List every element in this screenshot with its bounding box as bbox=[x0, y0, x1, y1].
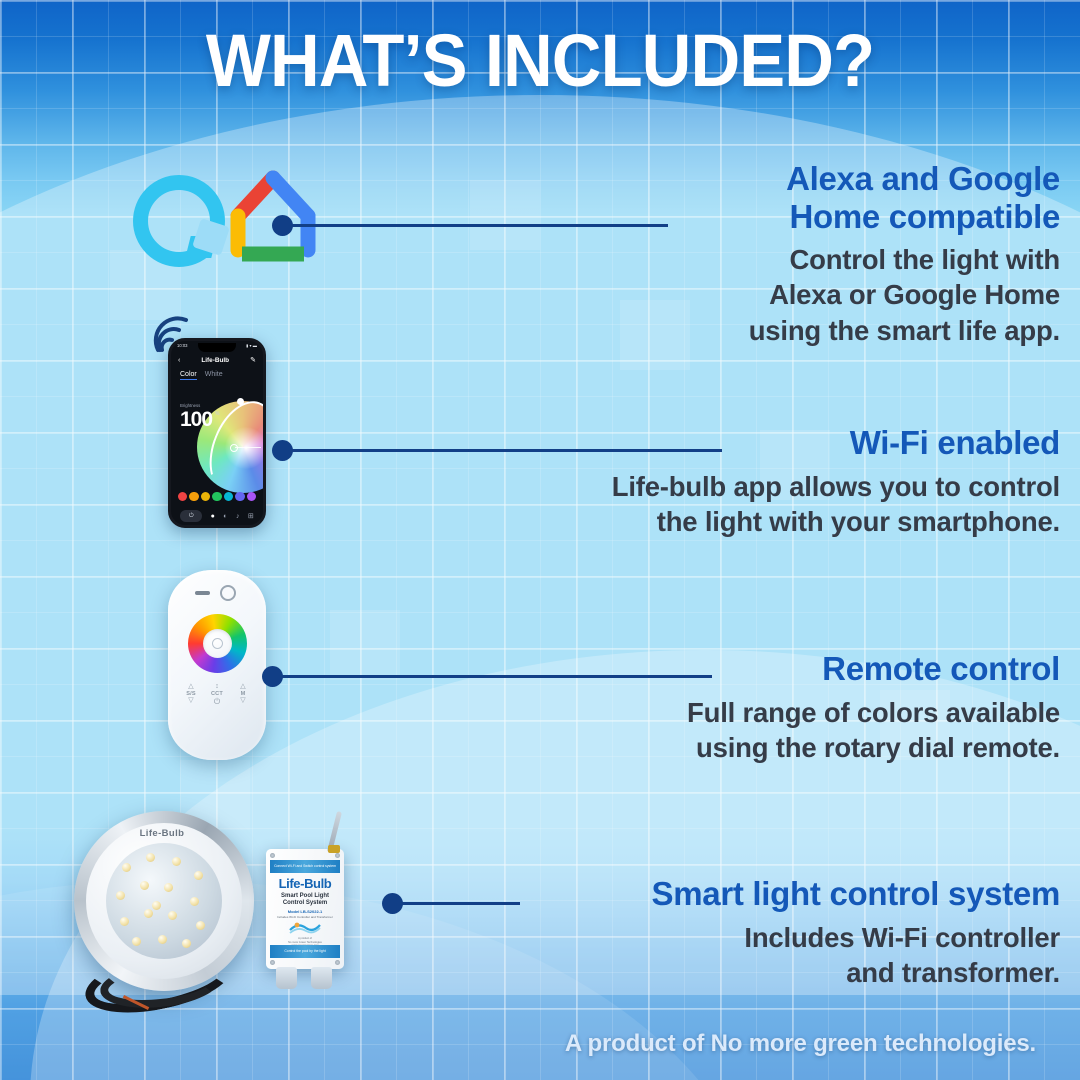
power-button[interactable]: ⏻ bbox=[180, 510, 202, 522]
remote-up-icon[interactable]: △ bbox=[178, 683, 204, 691]
tab-white[interactable]: White bbox=[205, 371, 223, 378]
controller-screw bbox=[270, 853, 275, 858]
feature-heading-4: Smart light control system bbox=[652, 875, 1060, 913]
controller-includes: Includes Wi-Fi Controller and Transforme… bbox=[266, 915, 344, 919]
tile-highlight bbox=[620, 300, 690, 370]
feature-heading-3: Remote control bbox=[687, 650, 1060, 688]
controller-bottom-strip: Control the pool by the light bbox=[270, 945, 340, 958]
tab-color[interactable]: Color bbox=[180, 371, 197, 380]
swatch-blue[interactable] bbox=[235, 492, 245, 502]
swatch-purple[interactable] bbox=[247, 492, 257, 502]
rgb-remote-control: △ S/S ▽ ↕ CCT ⏻ △ M ▽ bbox=[168, 570, 266, 760]
tile-highlight bbox=[330, 610, 400, 680]
feature-body-3: Full range of colors available using the… bbox=[687, 695, 1060, 765]
feature-text-2: Wi-Fi enabled Life-bulb app allows you t… bbox=[612, 424, 1060, 539]
nav-grid-icon[interactable]: ⊞ bbox=[248, 512, 254, 520]
swatch-yellow[interactable] bbox=[201, 492, 211, 502]
controller-screw bbox=[335, 960, 340, 965]
footer-credit: A product of No more green technologies. bbox=[565, 1030, 1036, 1058]
controller-screw bbox=[270, 960, 275, 965]
pool-light-fixture: Life-Bulb bbox=[70, 805, 285, 1005]
remote-col-cct: ↕ CCT ⏻ bbox=[204, 683, 230, 707]
swatch-red[interactable] bbox=[178, 492, 188, 502]
phone-notch bbox=[198, 343, 236, 352]
back-chevron-icon[interactable]: ‹ bbox=[178, 357, 180, 364]
remote-col-mode: △ M ▽ bbox=[230, 683, 256, 704]
remote-power-icon[interactable]: ⏻ bbox=[204, 697, 230, 707]
light-brand-label: Life-Bulb bbox=[70, 828, 254, 839]
controller-top-strip: Connect Wi-Fi and Switch control system bbox=[270, 860, 340, 873]
brightness-unit: % bbox=[215, 411, 219, 417]
controller-plug-right bbox=[311, 967, 332, 989]
connector-line-1 bbox=[290, 224, 668, 227]
feature-text-1: Alexa and Google Home compatible Control… bbox=[749, 160, 1060, 348]
remote-wheel-knob[interactable] bbox=[212, 638, 223, 649]
app-mode-tabs: Color White bbox=[180, 371, 223, 380]
nav-mode-icon[interactable]: ◐ bbox=[223, 513, 227, 520]
remote-down-icon[interactable]: ▽ bbox=[178, 697, 204, 705]
controller-subtitle: Smart Pool Light Control System bbox=[266, 893, 344, 907]
feature-heading-1: Alexa and Google Home compatible bbox=[749, 160, 1060, 235]
feature-text-4: Smart light control system Includes Wi-F… bbox=[652, 875, 1060, 990]
status-icons: ▮ ▾ ▬ bbox=[246, 343, 257, 348]
feature-body-2: Life-bulb app allows you to control the … bbox=[612, 469, 1060, 539]
remote-brightness-icon[interactable]: ↕ bbox=[204, 683, 230, 691]
controller-model: Model LB-S2022-1 bbox=[266, 909, 344, 914]
tile-highlight bbox=[470, 180, 540, 250]
remote-col-speed: △ S/S ▽ bbox=[178, 683, 204, 704]
controller-antenna-base bbox=[328, 845, 340, 853]
smartphone-mockup: 10:03 ▮ ▾ ▬ ‹ Life-Bulb ✎ Color White Br… bbox=[168, 338, 266, 528]
feature-body-1: Control the light with Alexa or Google H… bbox=[749, 242, 1060, 348]
controller-wave-logo-icon bbox=[288, 921, 322, 935]
remote-up-icon[interactable]: △ bbox=[230, 683, 256, 691]
app-header: ‹ Life-Bulb ✎ bbox=[171, 356, 263, 364]
nav-scene-icon[interactable]: ● bbox=[211, 513, 215, 520]
feature-text-3: Remote control Full range of colors avai… bbox=[687, 650, 1060, 765]
remote-power-ring-icon[interactable] bbox=[220, 585, 236, 601]
connector-line-3 bbox=[280, 675, 712, 678]
app-title: Life-Bulb bbox=[201, 357, 229, 364]
swatch-orange[interactable] bbox=[189, 492, 199, 502]
light-lens bbox=[106, 843, 222, 959]
brightness-arc-knob[interactable] bbox=[237, 398, 244, 405]
wifi-controller-box: Connect Wi-Fi and Switch control system … bbox=[266, 849, 344, 969]
controller-plug-left bbox=[276, 967, 297, 989]
swatch-green[interactable] bbox=[212, 492, 222, 502]
edit-pencil-icon[interactable]: ✎ bbox=[250, 356, 256, 364]
infographic-poster: WHAT’S INCLUDED? Alexa and Google Home c… bbox=[0, 0, 1080, 1080]
feature-body-4: Includes Wi-Fi controller and transforme… bbox=[652, 920, 1060, 990]
brightness-value: 100 bbox=[180, 408, 212, 432]
remote-down-icon[interactable]: ▽ bbox=[230, 697, 256, 705]
connector-line-4 bbox=[400, 902, 520, 905]
color-swatch-row bbox=[171, 492, 263, 502]
status-time: 10:03 bbox=[177, 343, 187, 348]
nav-music-icon[interactable]: ♪ bbox=[236, 513, 240, 520]
swatch-cyan[interactable] bbox=[224, 492, 234, 502]
feature-heading-2: Wi-Fi enabled bbox=[612, 424, 1060, 462]
app-bottom-nav: ⏻ ● ◐ ♪ ⊞ bbox=[171, 510, 263, 522]
controller-screw bbox=[335, 853, 340, 858]
controller-brand: Life-Bulb bbox=[266, 876, 344, 891]
remote-minus-icon[interactable] bbox=[195, 591, 210, 595]
page-title: WHAT’S INCLUDED? bbox=[38, 18, 1042, 103]
